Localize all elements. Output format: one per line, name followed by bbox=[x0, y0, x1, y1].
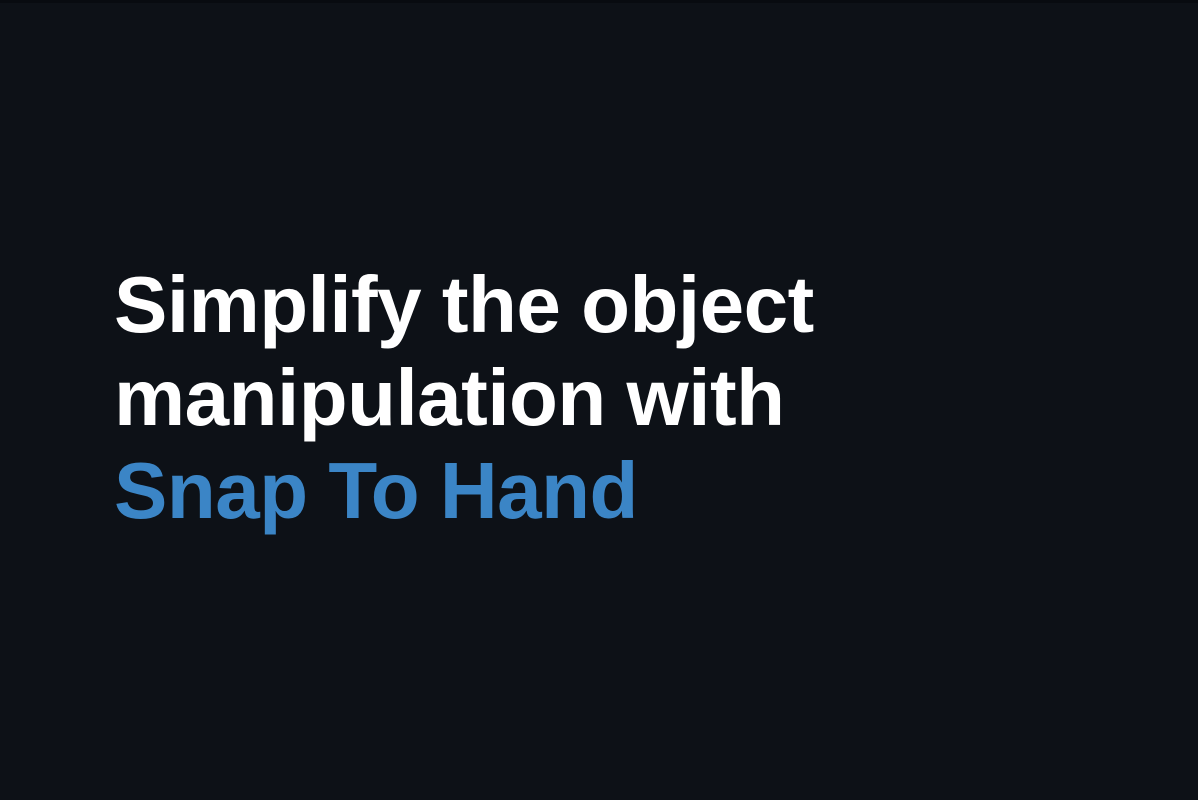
hero-slide: Simplify the object manipulation with Sn… bbox=[0, 0, 1198, 800]
heading-highlight-text: Snap To Hand bbox=[114, 446, 638, 535]
page-title: Simplify the object manipulation with Sn… bbox=[114, 258, 914, 537]
heading-lead-text: Simplify the object manipulation with bbox=[114, 260, 814, 442]
top-edge-band bbox=[0, 0, 1198, 3]
heading-measure: Simplify the object manipulation with Sn… bbox=[114, 258, 904, 537]
hero-content: Simplify the object manipulation with Sn… bbox=[114, 258, 914, 537]
